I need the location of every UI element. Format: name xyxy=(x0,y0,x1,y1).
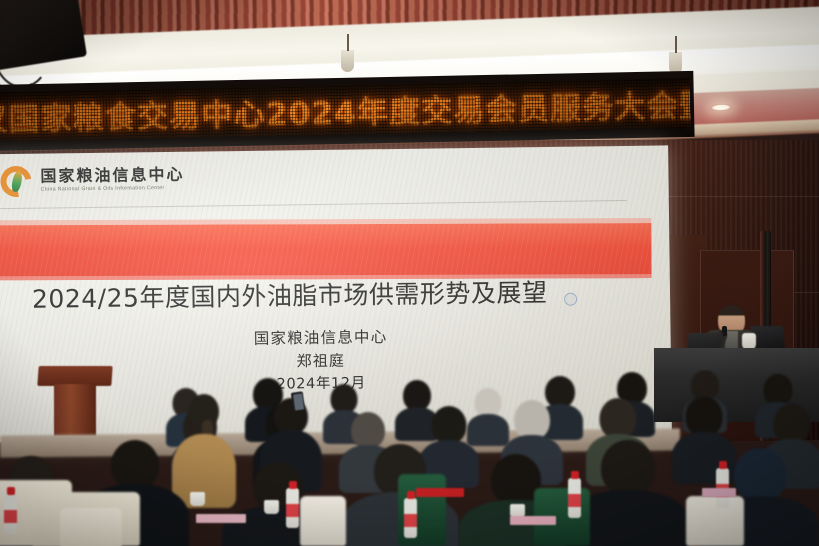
paper-cup[interactable] xyxy=(190,492,205,506)
audience-person xyxy=(578,440,678,546)
slide-title-band xyxy=(0,223,652,280)
document-sheet[interactable] xyxy=(702,488,736,497)
audience-person-standing xyxy=(176,394,232,504)
chair-back xyxy=(60,508,122,546)
grain-oils-logo-icon xyxy=(0,166,31,197)
chair-back xyxy=(300,496,346,546)
document-sheet[interactable] xyxy=(196,514,246,523)
audience-area xyxy=(0,370,819,546)
paper-cup[interactable] xyxy=(264,500,279,514)
slide-header-rule xyxy=(0,200,627,209)
wall-seam xyxy=(655,196,819,197)
water-bottle[interactable] xyxy=(4,494,17,534)
mouse-cursor-dot xyxy=(564,293,577,306)
document-folder[interactable] xyxy=(416,488,464,497)
led-banner-text: 汉国家粮食交易中心2024年度交易会员服务大会暨粮油企业座谈会 xyxy=(0,78,690,140)
logo-chinese-name: 国家粮油信息中心 xyxy=(40,167,184,186)
document-sheet[interactable] xyxy=(510,516,556,525)
ceiling-pendant-lamp xyxy=(341,50,354,72)
logo-english-name: China National Grain & Oils Information … xyxy=(41,186,185,193)
slide-logo: 国家粮油信息中心 China National Grain & Oils Inf… xyxy=(0,164,184,197)
conference-photo: 汉国家粮食交易中心2024年度交易会员服务大会暨粮油企业座谈会 国家粮油信息中心… xyxy=(0,0,819,546)
smartphone[interactable] xyxy=(291,391,306,411)
water-bottle[interactable] xyxy=(286,488,299,528)
water-bottle[interactable] xyxy=(404,498,417,538)
led-banner-screen: 汉国家粮食交易中心2024年度交易会员服务大会暨粮油企业座谈会 xyxy=(0,78,690,142)
slide-title: 2024/25年度国内外油脂市场供需形势及展望 xyxy=(32,273,548,316)
water-bottle[interactable] xyxy=(568,478,581,518)
byline-organization: 国家粮油信息中心 xyxy=(0,321,671,354)
audience-person xyxy=(470,388,506,444)
chair-back xyxy=(686,496,744,546)
